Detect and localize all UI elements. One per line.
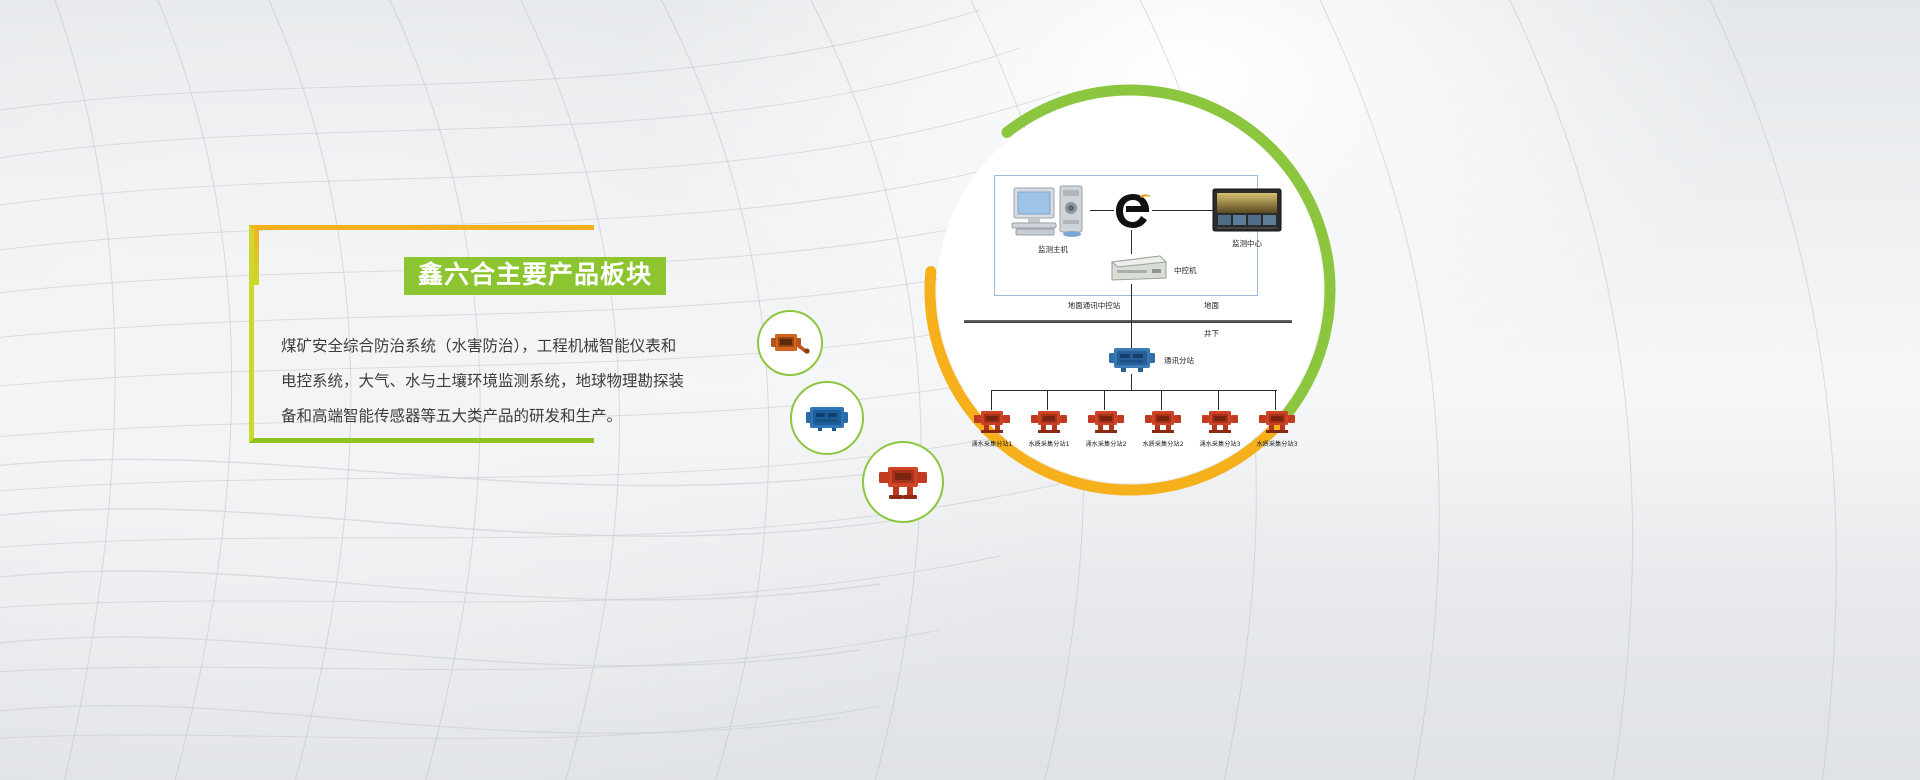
banner-title-bar: 鑫六合主要产品板块 xyxy=(404,257,666,295)
monitoring-host-icon xyxy=(1010,184,1096,240)
product-bubble-1[interactable] xyxy=(757,310,823,376)
wire-drop-1 xyxy=(991,390,992,410)
blue-junction-box-icon xyxy=(804,403,850,433)
station-icon-4 xyxy=(1144,408,1182,434)
description-line-3: 备和高端智能传感器等五大类产品的研发和生产。 xyxy=(281,399,711,434)
page-title: 鑫六合主要产品板块 xyxy=(418,260,652,289)
banner-description: 煤矿安全综合防治系统（水害防治），工程机械智能仪表和 电控系统，大气、水与土壤环… xyxy=(281,329,711,434)
label-communication-substation: 通讯分站 xyxy=(1164,355,1194,366)
wire-substation-bus xyxy=(1131,374,1132,390)
wire-controller-substation xyxy=(1131,284,1132,348)
wire-host-cloud xyxy=(1090,210,1114,211)
wire-cloud-controller xyxy=(1131,230,1132,254)
communication-substation-icon xyxy=(1106,344,1158,374)
label-underground-zone: 井下 xyxy=(1204,328,1219,339)
wire-drop-6 xyxy=(1275,390,1276,410)
wire-drop-5 xyxy=(1218,390,1219,410)
description-line-1: 煤矿安全综合防治系统（水害防治），工程机械智能仪表和 xyxy=(281,329,711,364)
station-icon-3 xyxy=(1087,408,1125,434)
monitoring-center-icon xyxy=(1212,188,1282,232)
ground-level-line xyxy=(964,320,1292,323)
label-monitoring-host: 监测主机 xyxy=(1010,244,1096,255)
station-icon-2 xyxy=(1030,408,1068,434)
wire-drop-2 xyxy=(1047,390,1048,410)
description-line-2: 电控系统，大气、水与土壤环境监测系统，地球物理勘探装 xyxy=(281,364,711,399)
wire-cloud-center xyxy=(1152,210,1218,211)
orange-controller-icon xyxy=(770,330,810,356)
controller-icon xyxy=(1108,252,1170,284)
label-monitoring-center: 监测中心 xyxy=(1212,238,1282,249)
product-banner: 鑫六合主要产品板块 煤矿安全综合防治系统（水害防治），工程机械智能仪表和 电控系… xyxy=(0,0,1920,780)
label-surface-zone: 地面 xyxy=(1204,300,1219,311)
station-icon-5 xyxy=(1201,408,1239,434)
station-icon-6 xyxy=(1258,408,1296,434)
label-controller: 中控机 xyxy=(1174,265,1197,276)
wire-station-bus xyxy=(991,390,1277,391)
station-icon-1 xyxy=(973,408,1011,434)
monitoring-topology-diagram: 监测主机 监测中心 xyxy=(918,78,1342,502)
internet-cloud-icon xyxy=(1112,190,1154,232)
label-surface-control-station: 地面通讯中控站 xyxy=(994,300,1194,311)
product-bubble-2[interactable] xyxy=(790,381,864,455)
wire-drop-3 xyxy=(1104,390,1105,410)
wire-drop-4 xyxy=(1161,390,1162,410)
label-station-6: 水质采集分站3 xyxy=(1243,439,1311,448)
